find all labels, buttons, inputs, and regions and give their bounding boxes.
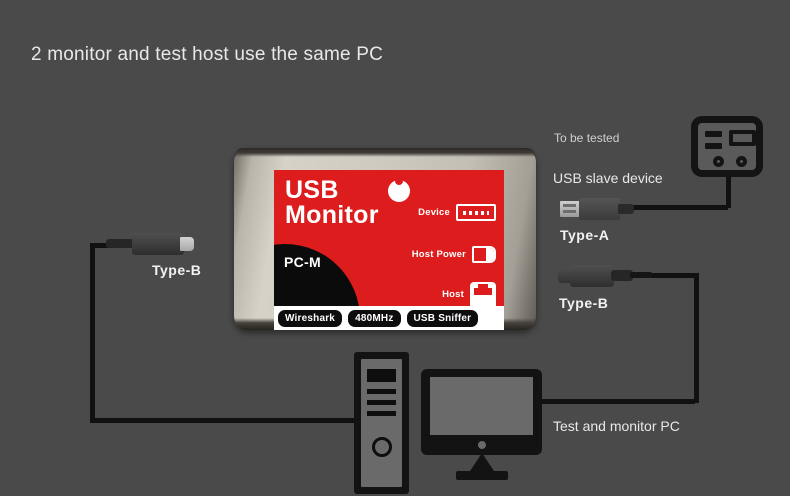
brand-line-2: Monitor <box>285 203 379 228</box>
usb-type-a-connector-icon <box>560 198 630 220</box>
device-feature-badges: Wireshark 480MHz USB Sniffer <box>274 306 504 330</box>
pc-tower-icon <box>354 352 409 494</box>
cable-right-bottom-segment <box>540 399 695 404</box>
label-to-be-tested: To be tested <box>554 131 619 145</box>
usb-circle-logo-icon <box>388 180 410 202</box>
label-type-b-right: Type-B <box>559 295 608 311</box>
type-b-right-cable-tail <box>630 272 652 278</box>
device-brand: USB Monitor <box>285 178 379 228</box>
monitor-stand-base <box>456 471 508 480</box>
logo-notch <box>395 179 403 185</box>
tower-vent-1 <box>367 389 396 394</box>
type-b-right-housing <box>570 265 614 287</box>
badge-usb-sniffer: USB Sniffer <box>407 310 479 327</box>
monitor-icon <box>421 369 542 480</box>
page-title: 2 monitor and test host use the same PC <box>31 44 383 66</box>
tower-vent-2 <box>367 400 396 405</box>
type-b-left-tip <box>180 237 194 251</box>
cable-right-vertical-segment <box>694 273 699 403</box>
cable-dut-horizontal-segment <box>626 205 728 210</box>
monitor-screen <box>430 377 533 435</box>
usb-type-b-connector-left-icon <box>92 233 210 255</box>
port-row-host-power: Host Power <box>412 246 496 263</box>
device-front-panel: USB Monitor PC-M Device Host Power Host <box>274 170 504 306</box>
port-label-device: Device <box>418 207 450 218</box>
usb-type-b-connector-right-icon <box>558 265 646 287</box>
label-type-a: Type-A <box>560 227 609 243</box>
tower-drive-bay <box>367 369 396 382</box>
diagram-canvas: 2 monitor and test host use the same PC … <box>0 0 790 496</box>
dut-knob-1 <box>713 156 724 167</box>
brand-line-1: USB <box>285 178 379 203</box>
monitor-indicator-dot <box>474 437 490 453</box>
type-b-left-housing <box>132 233 184 255</box>
cable-dut-vertical-segment <box>726 172 731 208</box>
port-row-device: Device <box>418 204 496 221</box>
badge-480mhz: 480MHz <box>348 310 400 327</box>
type-a-plug-shell <box>560 201 580 217</box>
device-top-edge <box>234 148 536 157</box>
tower-vent-3 <box>367 411 396 416</box>
label-type-b-left: Type-B <box>152 262 201 278</box>
cable-left-vertical-segment <box>90 243 95 423</box>
dut-indicator-bar-1 <box>705 131 722 137</box>
badge-wireshark: Wireshark <box>278 310 342 327</box>
dut-indicator-bar-2 <box>705 143 722 149</box>
device-model-label: PC-M <box>284 254 321 270</box>
type-a-housing <box>579 198 620 220</box>
port-row-host: Host <box>442 282 496 306</box>
usb-type-a-port-icon <box>456 204 496 221</box>
type-a-strain-relief <box>618 204 634 214</box>
usb-monitor-device: USB Monitor PC-M Device Host Power Host … <box>234 148 536 330</box>
label-test-and-monitor-pc: Test and monitor PC <box>553 418 680 434</box>
port-label-host-power: Host Power <box>412 249 466 260</box>
dut-display-icon <box>729 130 756 146</box>
tower-front-face <box>361 359 402 487</box>
device-under-test-icon <box>691 116 763 177</box>
power-connector-icon <box>472 246 496 263</box>
monitor-stand-neck <box>470 453 494 471</box>
usb-type-b-port-icon <box>470 282 496 306</box>
port-label-host: Host <box>442 289 464 300</box>
monitor-frame <box>421 369 542 455</box>
dut-knob-2 <box>736 156 747 167</box>
label-usb-slave-device: USB slave device <box>553 170 663 186</box>
cable-left-bottom-segment <box>90 418 366 423</box>
tower-power-button-icon <box>372 437 392 457</box>
